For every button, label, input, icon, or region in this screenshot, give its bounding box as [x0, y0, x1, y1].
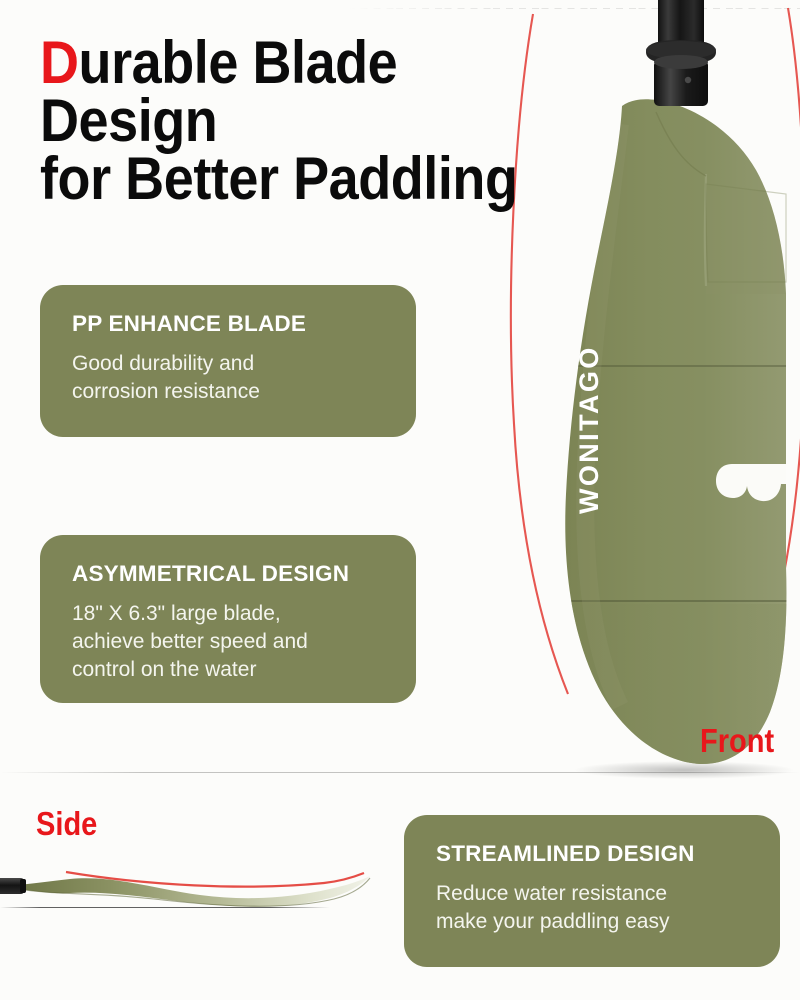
side-view-label: Side [36, 805, 97, 843]
blade-hook-notch [716, 464, 786, 501]
card-title: ASYMMETRICAL DESIGN [72, 561, 386, 587]
brand-wordmark: WONITAGO [574, 345, 604, 514]
feature-card-pp-enhance-blade[interactable]: PP ENHANCE BLADE Good durability and cor… [40, 285, 416, 437]
card-body: 18" X 6.3" large blade, achieve better s… [72, 600, 386, 684]
infographic-canvas: WONITAGO [0, 0, 800, 1000]
ferrule-button [685, 77, 691, 83]
card-title: PP ENHANCE BLADE [72, 311, 386, 337]
front-view-label: Front [700, 722, 774, 760]
feature-card-streamlined-design[interactable]: STREAMLINED DESIGN Reduce water resistan… [404, 815, 780, 967]
card-body: Reduce water resistance make your paddli… [436, 880, 750, 936]
paddle-side-view [0, 845, 384, 935]
headline-accent-letter: D [40, 29, 79, 96]
headline-line2: for Better Paddling [40, 145, 517, 212]
headline-line1-rest: urable Blade Design [40, 29, 397, 154]
page-title: Durable Blade Designfor Better Paddling [40, 34, 544, 209]
paddle-shaft-assembly [646, 0, 716, 106]
blade-contact-shadow [574, 761, 794, 779]
feature-card-asymmetrical-design[interactable]: ASYMMETRICAL DESIGN 18" X 6.3" large bla… [40, 535, 416, 703]
card-title: STREAMLINED DESIGN [436, 841, 750, 867]
card-body: Good durability and corrosion resistance [72, 350, 386, 406]
